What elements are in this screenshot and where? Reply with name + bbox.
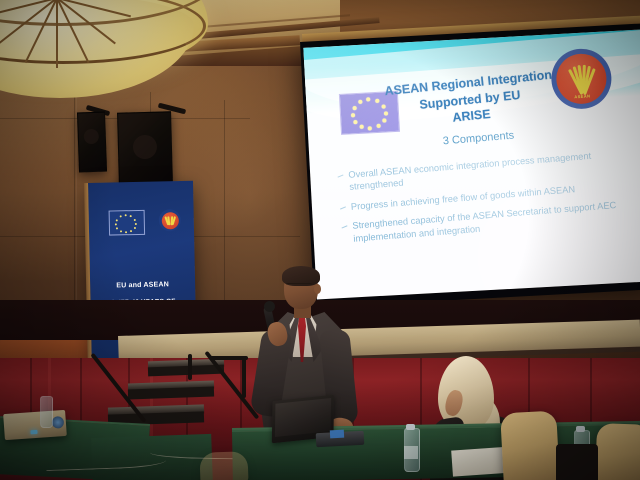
wall-speaker [77,112,107,173]
chair [500,411,560,480]
conference-room-photo: ASEAN ASEAN Regional Integration Support… [0,0,640,480]
control-box-indicator [330,430,344,439]
projector [3,410,67,440]
banner-eu-flag-icon [109,210,146,236]
stage-handrail-post [188,354,192,380]
chair [595,423,640,480]
banner-asean-logo-icon [159,209,181,231]
wall-speaker [117,111,173,186]
chair-shadow [556,444,598,480]
chair [199,451,248,480]
laptop-screen [275,398,331,437]
presenter-glasses [286,283,312,291]
presentation-slide: ASEAN ASEAN Regional Integration Support… [303,30,640,300]
presenter-ear [314,284,321,294]
speaker-cone-icon [84,129,100,145]
projection-screen: ASEAN ASEAN Regional Integration Support… [300,23,640,307]
ceiling-lamp [0,0,208,92]
bottle-label [404,446,418,459]
stage-step-riser [128,387,214,400]
stage-handrail-top [210,356,248,360]
stage-handrail-post [242,358,246,398]
projector-power-led [30,430,37,434]
stage-step-riser [148,365,224,377]
speaker-cone-icon [133,135,158,160]
slide-bullet-list: Overall ASEAN economic integration proce… [335,146,640,253]
water-bottle [40,396,53,428]
bottle-cap [406,424,415,430]
bottle-cap [576,426,585,432]
lamp-spoke [56,0,58,68]
banner-headline: EU and ASEAN [90,281,195,290]
projector-lens-icon [51,416,64,429]
